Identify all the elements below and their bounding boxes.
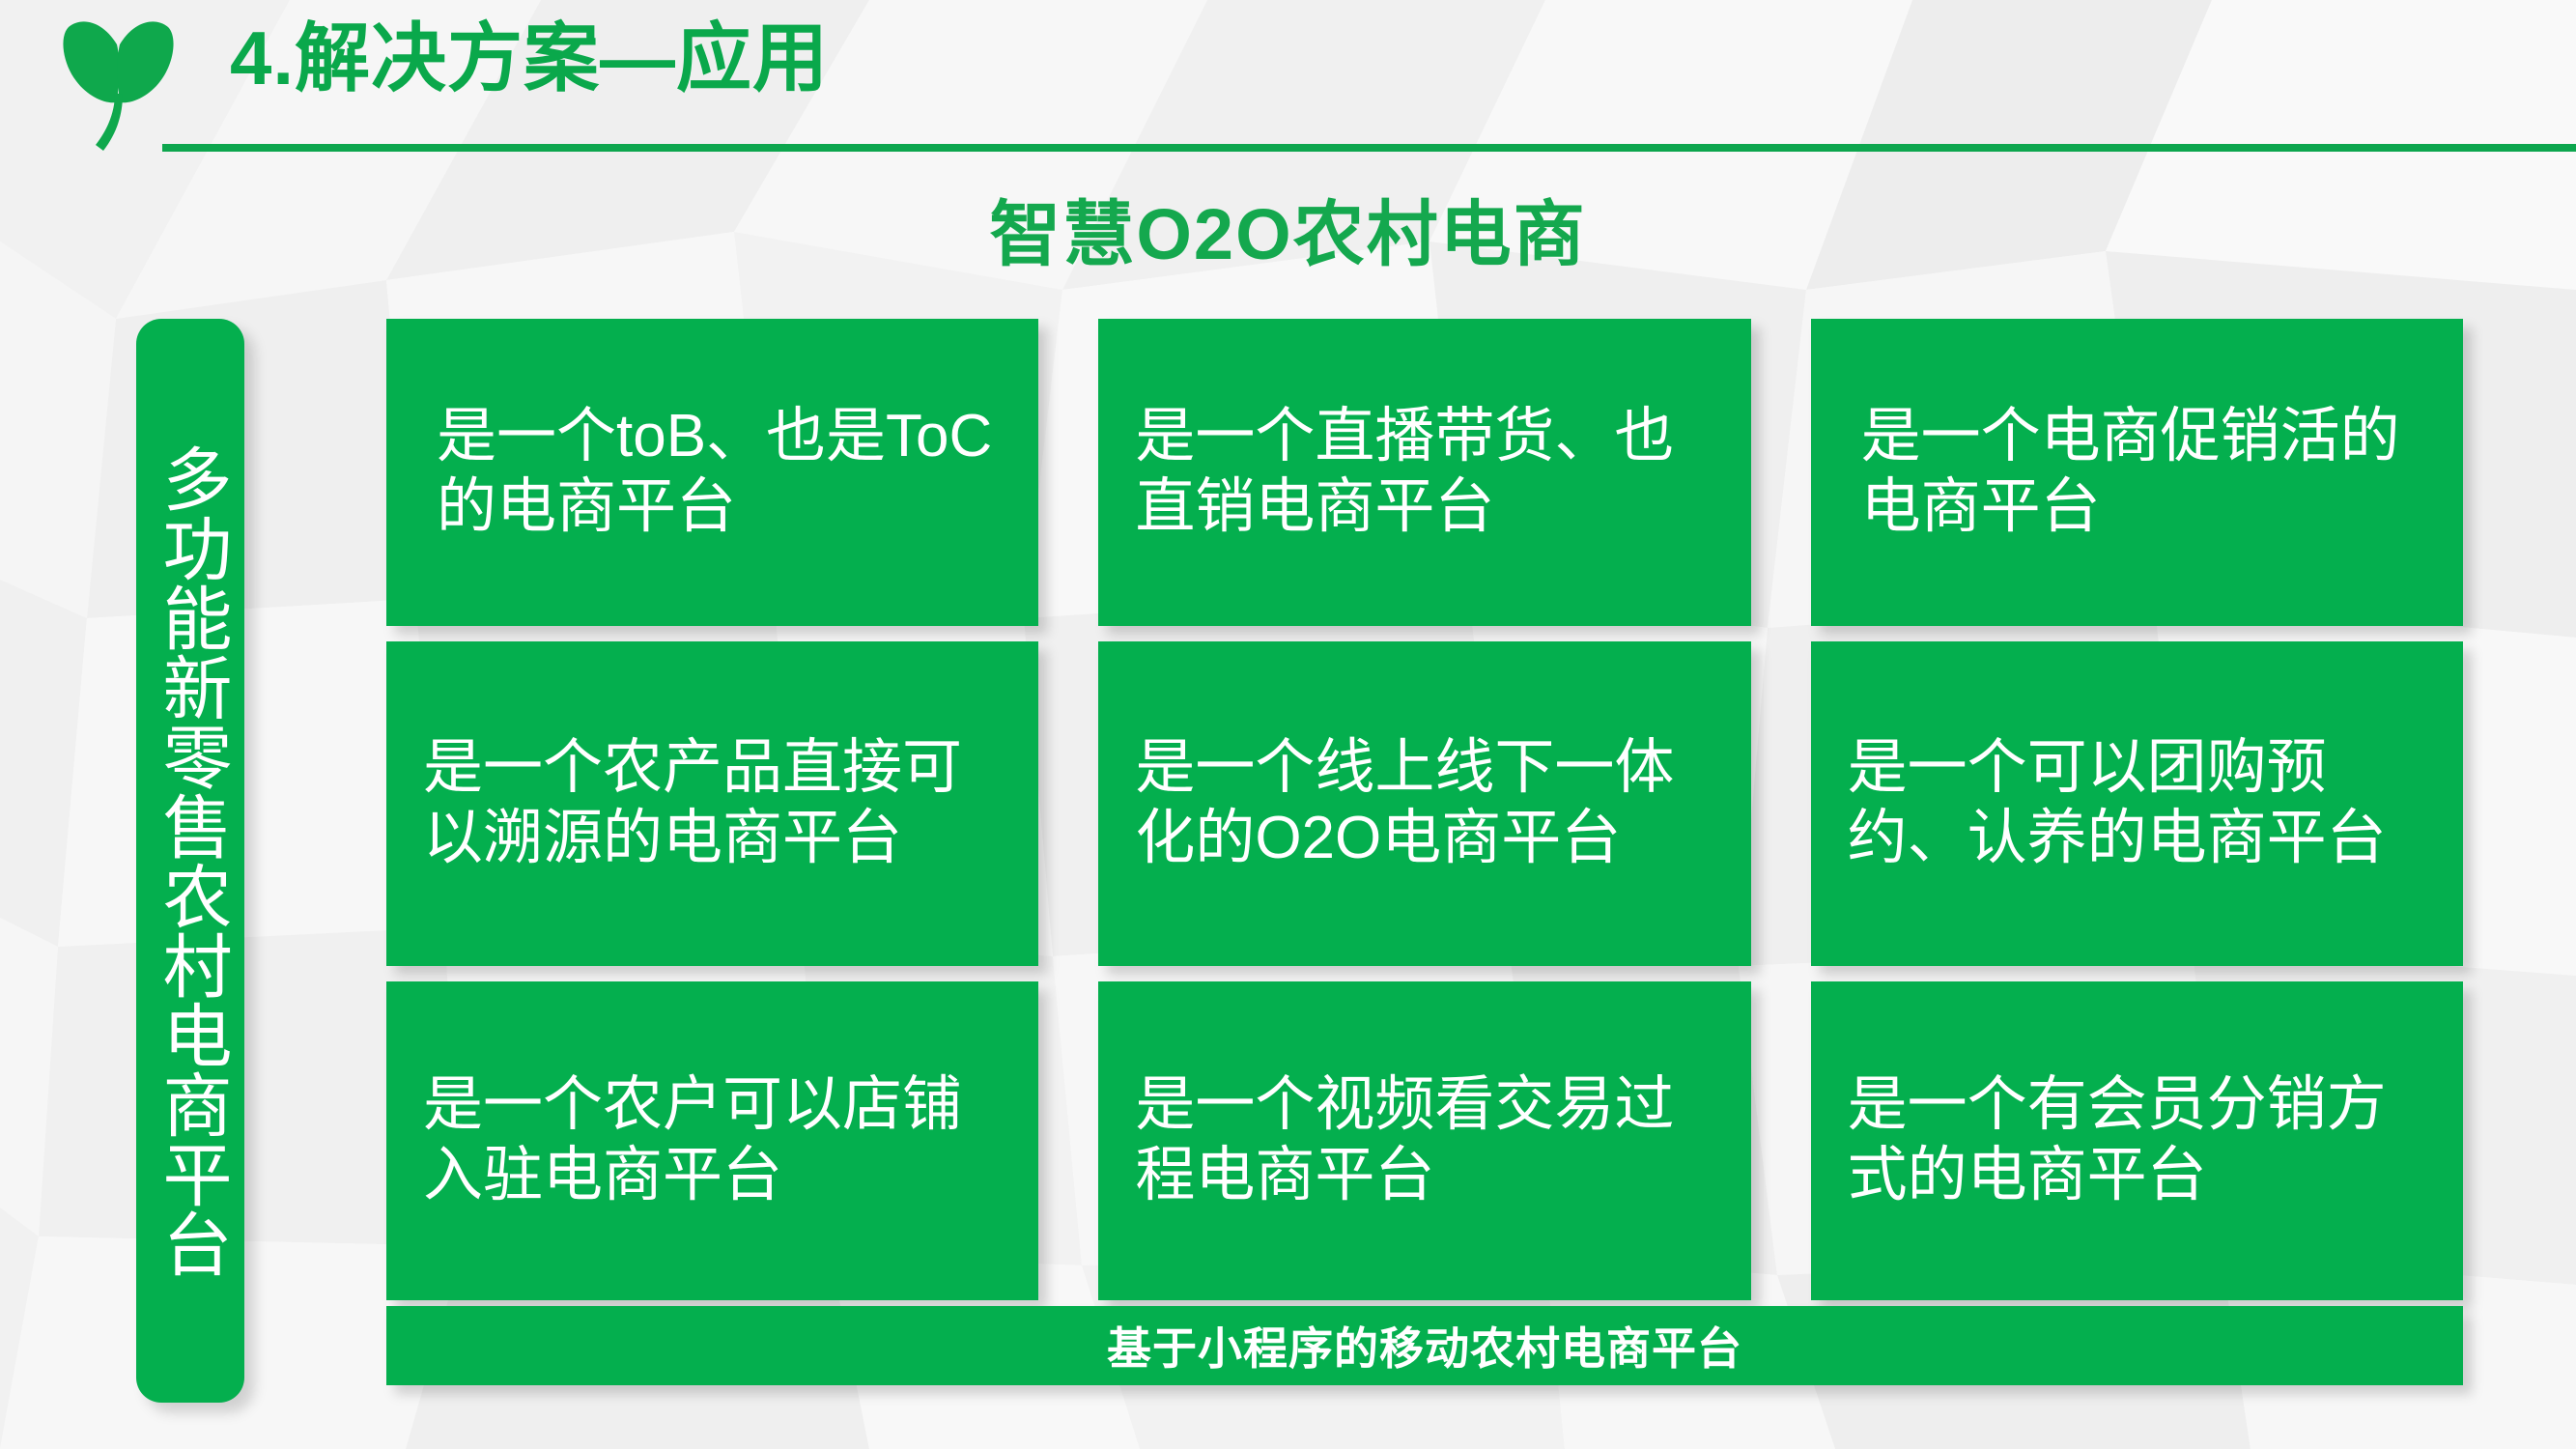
feature-cell-text: 是一个电商促销活的电商平台 [1861, 402, 2430, 542]
page-header: 4.解决方案—应用 [0, 0, 2576, 166]
feature-cell-text: 是一个直播带货、也直销电商平台 [1135, 402, 1717, 542]
feature-cell-text: 是一个视频看交易过程电商平台 [1135, 1070, 1717, 1210]
leaf-icon [53, 10, 184, 155]
feature-cell-5[interactable]: 是一个线上线下一体化的O2O电商平台 [1098, 641, 1750, 966]
feature-cell-6[interactable]: 是一个可以团购预约、认养的电商平台 [1811, 641, 2463, 966]
footer-banner[interactable]: 基于小程序的移动农村电商平台 [386, 1306, 2463, 1385]
feature-cell-text: 是一个可以团购预约、认养的电商平台 [1848, 733, 2430, 873]
sidebar-vertical-label: 多功能新零售农村电商平台 [156, 443, 225, 1278]
feature-cell-1[interactable]: 是一个toB、也是ToC的电商平台 [386, 319, 1038, 626]
page-title: 4.解决方案—应用 [230, 17, 829, 100]
feature-cell-text: 是一个农户可以店铺入驻电商平台 [423, 1070, 1005, 1210]
feature-cell-7[interactable]: 是一个农户可以店铺入驻电商平台 [386, 981, 1038, 1300]
feature-cell-text: 是一个有会员分销方式的电商平台 [1848, 1070, 2430, 1210]
feature-cell-text: 是一个toB、也是ToC的电商平台 [437, 402, 1005, 542]
feature-cell-4[interactable]: 是一个农产品直接可以溯源的电商平台 [386, 641, 1038, 966]
header-divider [162, 144, 2576, 152]
main-heading: 智慧O2O农村电商 [0, 177, 2576, 280]
feature-cell-2[interactable]: 是一个直播带货、也直销电商平台 [1098, 319, 1750, 626]
feature-cell-8[interactable]: 是一个视频看交易过程电商平台 [1098, 981, 1750, 1300]
feature-grid: 是一个toB、也是ToC的电商平台 是一个直播带货、也直销电商平台 是一个电商促… [386, 319, 2463, 1285]
footer-banner-label: 基于小程序的移动农村电商平台 [1107, 1314, 1742, 1378]
feature-cell-9[interactable]: 是一个有会员分销方式的电商平台 [1811, 981, 2463, 1300]
feature-cell-text: 是一个农产品直接可以溯源的电商平台 [423, 733, 1005, 873]
feature-cell-3[interactable]: 是一个电商促销活的电商平台 [1811, 319, 2463, 626]
feature-cell-text: 是一个线上线下一体化的O2O电商平台 [1135, 733, 1717, 873]
sidebar-label-panel: 多功能新零售农村电商平台 [136, 319, 244, 1403]
